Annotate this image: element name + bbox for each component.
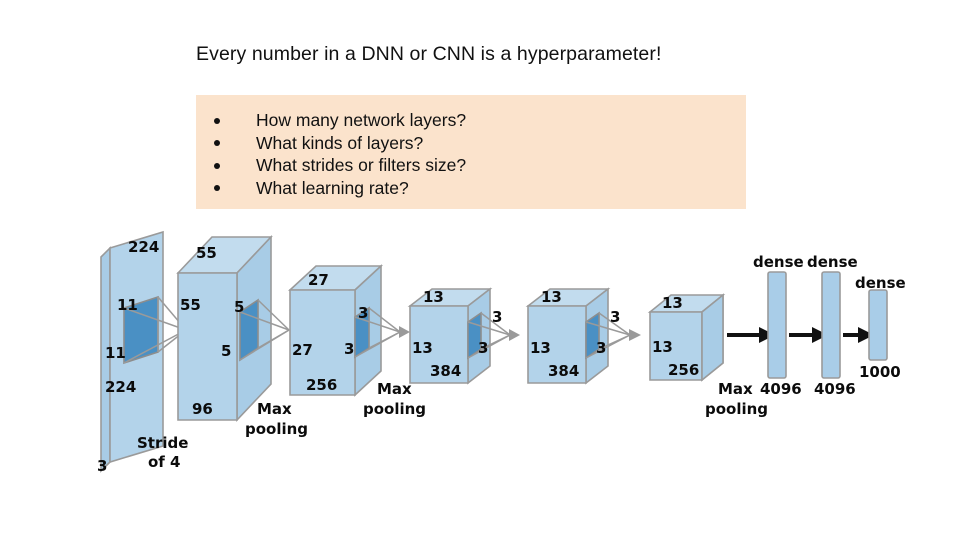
conv5-width-label: 13 [662,294,683,312]
conv1-width-label: 55 [196,244,217,262]
max-pooling-1-line2: pooling [245,420,308,438]
dense-4096-b-caption: dense [807,253,858,271]
conv1-depth-label: 96 [192,400,213,418]
conv3-depth-label: 384 [430,362,461,380]
conv3-patch-height-label: 3 [478,339,488,357]
conv2-width-label: 27 [308,271,329,289]
conv1-patch-width-label: 5 [234,298,244,316]
dense-1000-caption: dense [855,274,906,292]
max-pooling-label-3: Max pooling [705,380,768,418]
conv4-height-label: 13 [530,339,551,357]
input-depth-label: 3 [97,457,107,475]
dense-4096-b-size: 4096 [814,380,856,398]
conv5-height-label: 13 [652,338,673,356]
conv3-block: 13 13 384 3 3 [410,288,510,383]
input-width-label: 224 [128,238,159,256]
flow-arrow-stub-1 [399,326,410,338]
conv4-block: 13 13 384 3 3 [528,288,630,383]
max-pooling-label-2: Max pooling [363,380,426,418]
conv3-patch-width-label: 3 [492,308,502,326]
conv4-depth-label: 384 [548,362,579,380]
conv3-height-label: 13 [412,339,433,357]
dense-1000-size: 1000 [859,363,901,381]
dense-1000-bar [869,290,887,360]
input-patch-width-label: 11 [117,296,138,314]
max-pooling-2-line1: Max [377,380,412,398]
conv2-height-label: 27 [292,341,313,359]
dense-4096-b-bar [822,272,840,378]
input-height-label: 224 [105,378,136,396]
conv1-block: 55 55 96 5 5 [178,237,289,420]
conv1-height-label: 55 [180,296,201,314]
conv2-patch-height-label: 3 [344,340,354,358]
conv5-depth-label: 256 [668,361,699,379]
max-pooling-3-line2: pooling [705,400,768,418]
conv2-patch-width-label: 3 [358,304,368,322]
conv3-width-label: 13 [423,288,444,306]
max-pooling-1-line1: Max [257,400,292,418]
input-plate: 224 224 3 11 11 Stride of 4 [97,232,188,475]
conv4-patch-width-label: 3 [610,308,620,326]
conv2-depth-label: 256 [306,376,337,394]
dense-4096-a-caption: dense [753,253,804,271]
stride-label-line2: of 4 [148,453,181,471]
conv4-width-label: 13 [541,288,562,306]
input-patch-height-label: 11 [105,344,126,362]
flow-arrow-stub-2 [509,329,520,341]
max-pooling-label-1: Max pooling [245,400,308,438]
flow-arrow-stub-3 [629,329,641,341]
max-pooling-2-line2: pooling [363,400,426,418]
conv2-block: 27 27 256 3 3 [290,266,400,395]
max-pooling-3-line1: Max [718,380,753,398]
stride-label-line1: Stride [137,434,188,452]
conv4-patch-height-label: 3 [596,339,606,357]
slide-canvas: Every number in a DNN or CNN is a hyperp… [0,0,960,540]
conv1-patch-height-label: 5 [221,342,231,360]
dense-4096-a-size: 4096 [760,380,802,398]
alexnet-architecture-diagram: 224 224 3 11 11 Stride of 4 55 55 96 5 [0,0,960,540]
dense-4096-a-bar [768,272,786,378]
